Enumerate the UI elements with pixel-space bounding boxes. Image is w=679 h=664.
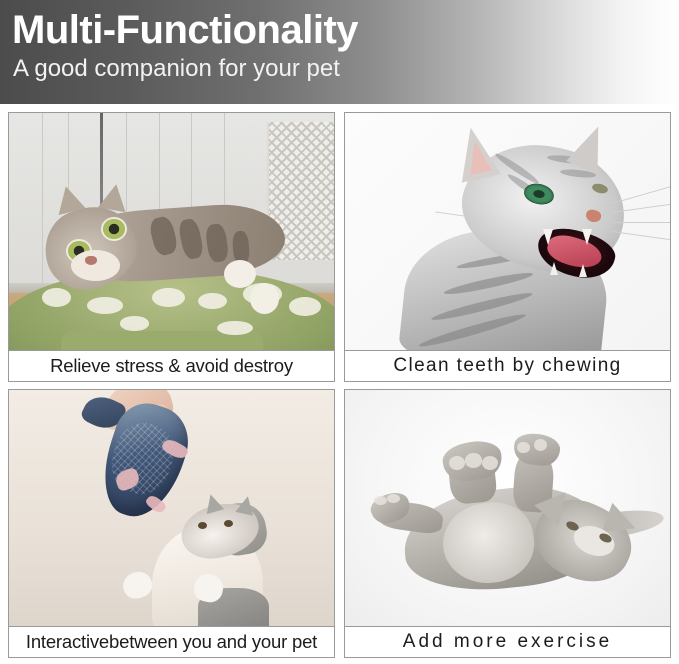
feature-cell-clean-teeth[interactable]: Clean teeth by chewing (344, 112, 671, 382)
page-subtitle: A good companion for your pet (13, 55, 340, 83)
photo-interactive (9, 390, 334, 627)
feature-cell-relieve-stress[interactable]: Relieve stress & avoid destroy (8, 112, 335, 382)
photo-clean-teeth (345, 113, 670, 350)
page-title: Multi-Functionality (12, 8, 358, 52)
feature-cell-interactive[interactable]: Interactivebetween you and your pet (8, 389, 335, 659)
caption-interactive: Interactivebetween you and your pet (9, 626, 334, 657)
header-banner: Multi-Functionality A good companion for… (0, 0, 679, 104)
feature-grid: Relieve stress & avoid destroy (8, 112, 671, 658)
caption-clean-teeth: Clean teeth by chewing (345, 350, 670, 381)
feature-cell-add-exercise[interactable]: Add more exercise (344, 389, 671, 659)
caption-add-exercise: Add more exercise (345, 626, 670, 657)
photo-relieve-stress (9, 113, 334, 350)
photo-add-exercise (345, 390, 670, 627)
caption-relieve-stress: Relieve stress & avoid destroy (9, 350, 334, 381)
